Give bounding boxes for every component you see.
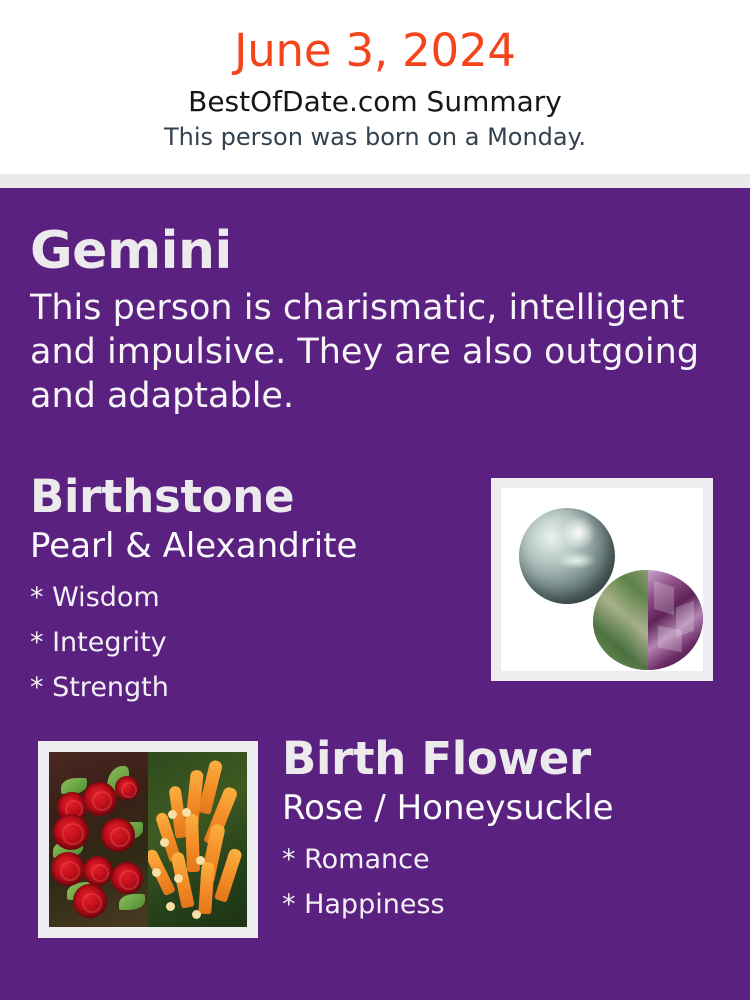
page-title: June 3, 2024 (0, 0, 750, 81)
list-item: * Integrity (30, 620, 470, 665)
birthstone-section: Birthstone Pearl & Alexandrite * Wisdom … (30, 470, 470, 710)
header-divider (0, 174, 750, 188)
birth-flower-photo-frame (38, 741, 258, 938)
roses-photo-half (49, 752, 148, 927)
list-item: * Romance (282, 837, 722, 882)
honeysuckle-photo-half (148, 752, 247, 927)
birthstone-traits-list: * Wisdom * Integrity * Strength (30, 567, 470, 710)
rose-icon (111, 862, 143, 894)
rose-icon (101, 818, 135, 852)
rose-icon (83, 782, 117, 816)
summary-card: June 3, 2024 BestOfDate.com Summary This… (0, 0, 750, 1000)
honeysuckle-bud (166, 902, 175, 911)
leaf-icon (119, 894, 145, 910)
honeysuckle-bud (152, 868, 161, 877)
zodiac-sign-title: Gemini (30, 220, 710, 282)
site-name: BestOfDate.com Summary (0, 81, 750, 120)
rose-icon (51, 852, 85, 886)
honeysuckle-bud (196, 856, 205, 865)
honeysuckle-bud (160, 838, 169, 847)
birth-flower-heading: Birth Flower (282, 732, 722, 786)
rose-icon (83, 856, 113, 886)
birth-flower-names: Rose / Honeysuckle (282, 786, 722, 829)
honeysuckle-bud (192, 910, 201, 919)
list-item: * Wisdom (30, 575, 470, 620)
birth-flower-photo (49, 752, 247, 927)
birth-day-note: This person was born on a Monday. (0, 120, 750, 153)
honeysuckle-tube (198, 862, 215, 915)
alexandrite-rough-half (593, 570, 650, 670)
rose-icon (53, 814, 89, 850)
birthstone-photo-frame (491, 478, 713, 681)
birthstone-names: Pearl & Alexandrite (30, 524, 470, 567)
zodiac-section: Gemini This person is charismatic, intel… (30, 220, 710, 418)
zodiac-description: This person is charismatic, intelligent … (30, 282, 700, 418)
gem-facet (654, 581, 674, 615)
alexandrite-icon (593, 570, 703, 670)
honeysuckle-bud (174, 874, 183, 883)
list-item: * Happiness (282, 882, 722, 927)
rose-icon (73, 884, 107, 918)
card-header: June 3, 2024 BestOfDate.com Summary This… (0, 0, 750, 174)
birthstone-heading: Birthstone (30, 470, 470, 524)
birthstone-photo (501, 488, 703, 671)
alexandrite-cut-half (648, 570, 703, 670)
list-item: * Strength (30, 665, 470, 710)
birth-flower-traits-list: * Romance * Happiness (282, 829, 722, 927)
rose-icon (115, 776, 139, 800)
gem-facet (658, 625, 682, 652)
birth-flower-section: Birth Flower Rose / Honeysuckle * Romanc… (282, 732, 722, 927)
honeysuckle-bud (168, 810, 177, 819)
honeysuckle-bud (182, 808, 191, 817)
